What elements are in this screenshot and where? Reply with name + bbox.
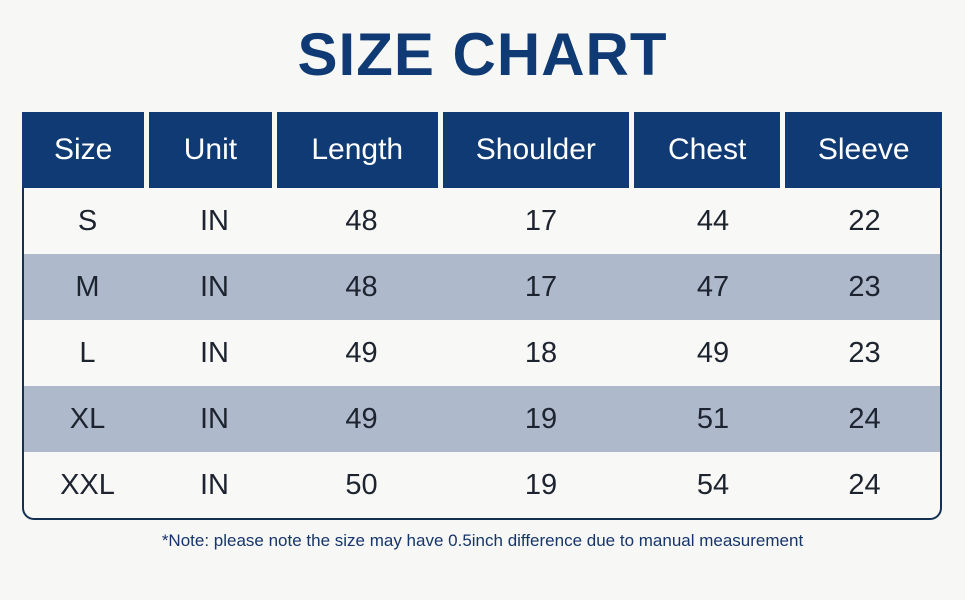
cell-size: M (24, 254, 151, 320)
cell-sleeve: 23 (789, 320, 940, 386)
column-header-chest: Chest (634, 112, 781, 188)
cell-unit: IN (151, 320, 278, 386)
cell-sleeve: 24 (789, 452, 940, 518)
column-header-unit: Unit (149, 112, 271, 188)
column-header-length: Length (277, 112, 438, 188)
table-body: S IN 48 17 44 22 M IN 48 17 47 23 L IN 4… (22, 188, 942, 520)
cell-chest: 54 (637, 452, 789, 518)
cell-shoulder: 19 (445, 452, 637, 518)
cell-chest: 47 (637, 254, 789, 320)
table-row: M IN 48 17 47 23 (24, 254, 940, 320)
cell-unit: IN (151, 254, 278, 320)
cell-size: XL (24, 386, 151, 452)
table-row: XL IN 49 19 51 24 (24, 386, 940, 452)
cell-chest: 49 (637, 320, 789, 386)
cell-shoulder: 17 (445, 254, 637, 320)
table-row: XXL IN 50 19 54 24 (24, 452, 940, 518)
cell-length: 48 (278, 254, 445, 320)
cell-sleeve: 22 (789, 188, 940, 254)
cell-length: 49 (278, 386, 445, 452)
cell-chest: 44 (637, 188, 789, 254)
cell-unit: IN (151, 386, 278, 452)
table-row: L IN 49 18 49 23 (24, 320, 940, 386)
measurement-note: *Note: please note the size may have 0.5… (0, 530, 965, 552)
cell-unit: IN (151, 452, 278, 518)
cell-size: S (24, 188, 151, 254)
cell-sleeve: 24 (789, 386, 940, 452)
table-row: S IN 48 17 44 22 (24, 188, 940, 254)
cell-length: 50 (278, 452, 445, 518)
size-chart-table: Size Unit Length Shoulder Chest Sleeve S… (22, 112, 942, 520)
column-header-shoulder: Shoulder (443, 112, 629, 188)
cell-shoulder: 18 (445, 320, 637, 386)
cell-sleeve: 23 (789, 254, 940, 320)
cell-size: L (24, 320, 151, 386)
cell-shoulder: 17 (445, 188, 637, 254)
cell-length: 49 (278, 320, 445, 386)
table-header-row: Size Unit Length Shoulder Chest Sleeve (22, 112, 942, 188)
size-chart-page: SIZE CHART Size Unit Length Shoulder Che… (0, 0, 965, 600)
column-header-sleeve: Sleeve (785, 112, 942, 188)
column-header-size: Size (22, 112, 144, 188)
cell-unit: IN (151, 188, 278, 254)
cell-chest: 51 (637, 386, 789, 452)
page-title: SIZE CHART (0, 18, 965, 92)
cell-shoulder: 19 (445, 386, 637, 452)
cell-size: XXL (24, 452, 151, 518)
cell-length: 48 (278, 188, 445, 254)
